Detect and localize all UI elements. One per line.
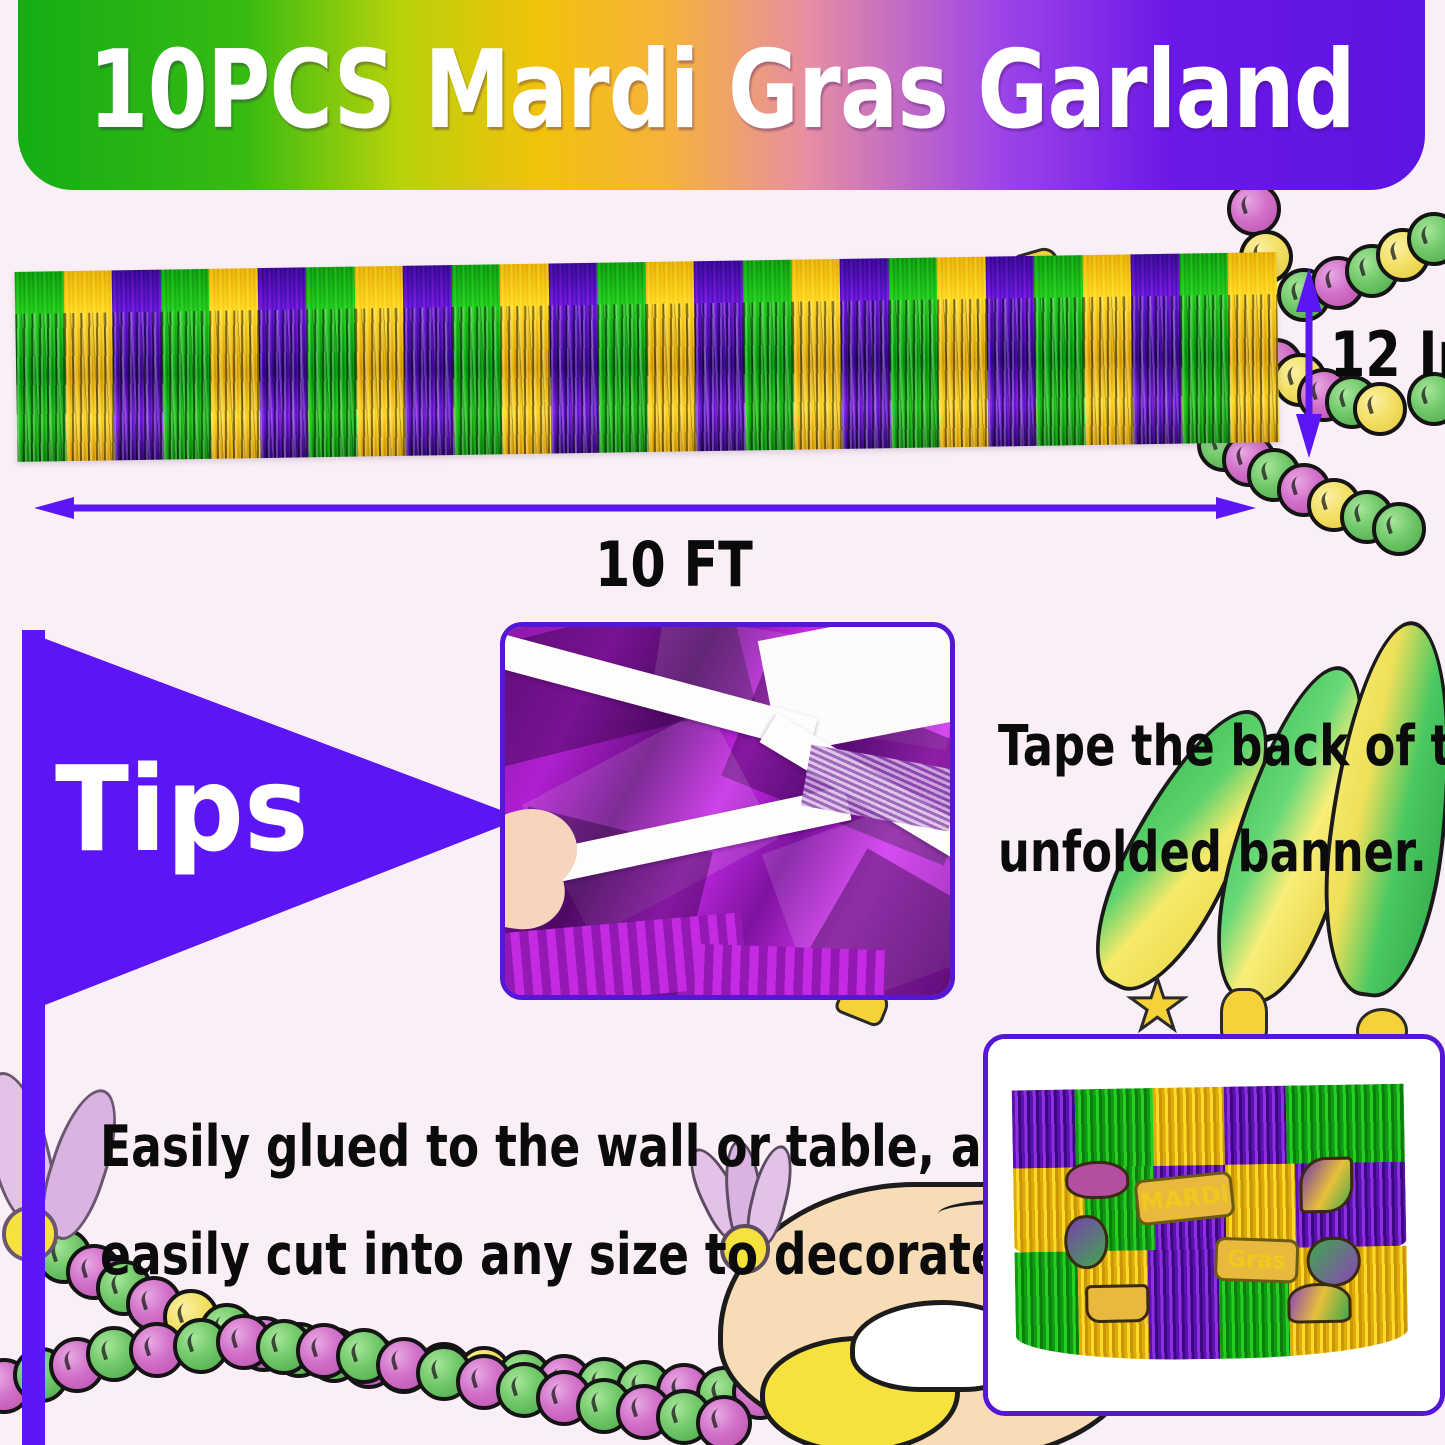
star-icon: ★ (1126, 970, 1189, 1040)
bead (341, 1333, 397, 1389)
bead (296, 1323, 352, 1379)
bead (163, 1289, 219, 1345)
fringe-stripe (985, 256, 1037, 447)
bead (1340, 490, 1394, 544)
header-banner: 10PCS Mardi Gras Garland (18, 0, 1425, 190)
fringe-stripe (742, 260, 794, 451)
bead (696, 1395, 752, 1445)
fringe-stripe (209, 268, 261, 459)
bead (768, 1362, 824, 1418)
bead (804, 1360, 860, 1416)
fringe-stripe (791, 259, 843, 450)
bead (912, 1352, 968, 1408)
fringe-stripe (451, 264, 503, 455)
tape-back-photo-inset (500, 622, 955, 1000)
bead (1345, 244, 1399, 298)
bead (496, 1362, 552, 1418)
bead (456, 1346, 512, 1402)
bead (256, 1319, 312, 1375)
fringe-stripe (548, 263, 600, 454)
bead (732, 1364, 788, 1420)
bead (496, 1350, 552, 1406)
fringe-stripe (15, 271, 67, 462)
fringe-stripe (1131, 254, 1183, 445)
layered-fringe-backdrop: MARDi Gras (1012, 1084, 1409, 1363)
bead (199, 1303, 255, 1359)
product-infographic: ★ 10PCS Mardi Gras Garland (0, 0, 1445, 1445)
fringe-stripe (694, 260, 746, 451)
tape-tip-line2: unfolded banner. (998, 820, 1427, 885)
fringe-stripe (354, 266, 406, 457)
bead (576, 1357, 632, 1413)
bead (456, 1354, 512, 1410)
fringe-stripe (1082, 254, 1134, 445)
bead (1376, 228, 1430, 282)
fringe-stripe (937, 257, 989, 448)
gras-cutout: Gras (1214, 1237, 1299, 1284)
fringe-stripe (112, 270, 164, 461)
tips-label: Tips (55, 740, 309, 878)
fringe-stripe (1179, 253, 1231, 444)
bead (49, 1337, 105, 1393)
bead (536, 1370, 592, 1426)
bead (656, 1363, 712, 1419)
bead (1372, 502, 1426, 556)
fringe-stripe (1228, 252, 1280, 443)
crown-icon (1085, 1284, 1150, 1323)
bead (236, 1316, 292, 1372)
fringe-stripe (1034, 255, 1086, 446)
height-label: 12 In (1330, 318, 1445, 391)
bead (129, 1322, 185, 1378)
bead (616, 1360, 672, 1416)
fringe-stripe (597, 262, 649, 453)
fringe-stripe (63, 270, 115, 461)
bead (1407, 212, 1445, 266)
bead (1307, 478, 1361, 532)
width-label: 10 FT (595, 528, 753, 601)
bead (86, 1326, 142, 1382)
bead (536, 1354, 592, 1410)
tape-tip-line1: Tape the back of the (998, 714, 1445, 779)
bead (416, 1342, 472, 1398)
width-dimension-arrow (34, 497, 1256, 519)
height-dimension-arrow (1296, 268, 1322, 458)
fringe-stripe (306, 267, 358, 458)
bead (271, 1322, 327, 1378)
bead (840, 1358, 896, 1414)
mask-icon (1065, 1160, 1130, 1199)
backdrop-photo-inset: MARDi Gras (983, 1034, 1445, 1416)
bead (616, 1384, 672, 1440)
fringe-stripe (160, 269, 212, 460)
page-title: 10PCS Mardi Gras Garland (88, 37, 1355, 153)
bead (1247, 448, 1301, 502)
bead-strand-bottom-left (0, 1290, 760, 1445)
bead (696, 1366, 752, 1422)
bead (306, 1327, 362, 1383)
bead (336, 1328, 392, 1384)
fringe-stripe (257, 267, 309, 458)
purple-foil-banner-photo (505, 627, 950, 995)
fringe-stripe (840, 258, 892, 449)
bead (576, 1378, 632, 1434)
bead (376, 1338, 432, 1394)
bead (876, 1356, 932, 1412)
fringe-stripe (888, 257, 940, 448)
jester-hat-icon (1287, 1283, 1352, 1324)
feather-icon (1309, 614, 1445, 1003)
bead (656, 1389, 712, 1445)
bead (376, 1337, 432, 1393)
cut-fringe (694, 944, 886, 1000)
fringe-stripe (645, 261, 697, 452)
bead (216, 1314, 272, 1370)
bead (416, 1345, 472, 1401)
fringe-stripe (403, 265, 455, 456)
garland-product-image (16, 262, 1278, 452)
bead (1227, 182, 1281, 236)
bead (173, 1318, 229, 1374)
bead (1277, 463, 1331, 517)
fringe-stripe (500, 264, 552, 455)
fringe-strip (15, 252, 1280, 462)
